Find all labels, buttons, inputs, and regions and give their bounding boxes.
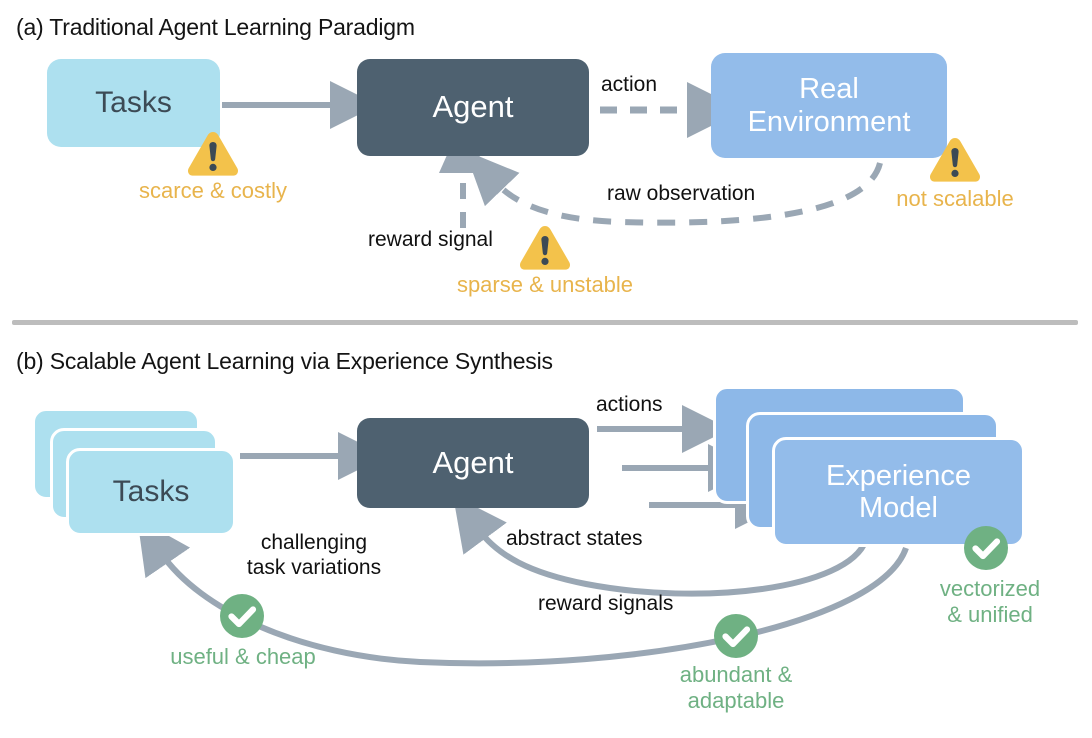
panel-b-node-tasks[interactable]: Tasks (66, 448, 236, 536)
panel-b-experience-label-line1: Experience (826, 460, 971, 492)
panel-b-edge-label-task-variations-line2: task variations (224, 556, 404, 581)
panel-b-badge-caption-rewards-line2: adaptable (636, 688, 836, 714)
panel-b-tasks-label: Tasks (113, 475, 190, 509)
panel-b-badge-caption-experience: vectorized & unified (895, 576, 1085, 628)
panel-b-badge-caption-tasks: useful & cheap (138, 644, 348, 670)
figure-canvas: (a) Traditional Agent Learning Paradigm (0, 0, 1092, 738)
panel-b-node-agent[interactable]: Agent (357, 418, 589, 508)
panel-b-edge-label-reward-signals: reward signals (538, 592, 673, 617)
panel-b-badge-caption-rewards: abundant & adaptable (636, 662, 836, 714)
check-circle-icon (962, 524, 1010, 572)
check-circle-icon (712, 612, 760, 660)
panel-b-edge-label-actions: actions (596, 393, 663, 418)
panel-b-edge-label-abstract-states: abstract states (506, 527, 643, 552)
panel-b-experience-label-line2: Model (859, 492, 938, 524)
panel-b-badge-caption-experience-line1: vectorized (895, 576, 1085, 602)
panel-b-badge-caption-rewards-line1: abundant & (636, 662, 836, 688)
check-circle-icon (218, 592, 266, 640)
panel-b-badge-caption-experience-line2: & unified (895, 602, 1085, 628)
panel-b-edge-label-task-variations: challenging task variations (224, 531, 404, 581)
panel-b-agent-label: Agent (432, 446, 513, 481)
panel-b-edge-label-task-variations-line1: challenging (224, 531, 404, 556)
